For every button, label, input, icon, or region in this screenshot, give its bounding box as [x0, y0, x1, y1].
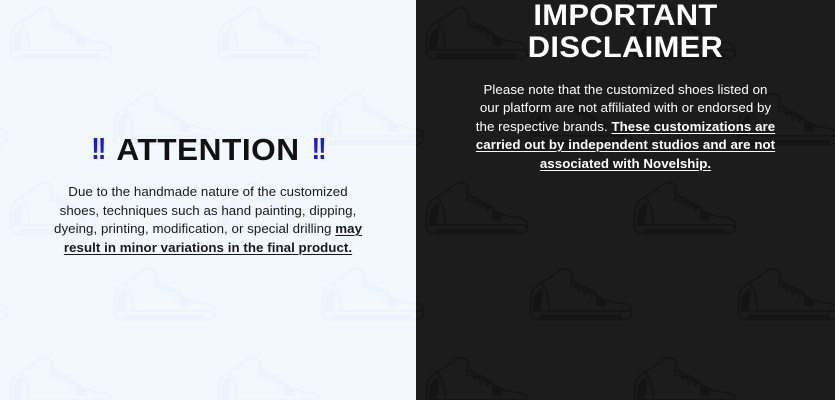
- attention-heading-text: ATTENTION: [116, 134, 299, 165]
- disclaimer-heading: IMPORTANT DISCLAIMER: [432, 0, 818, 64]
- disclaimer-panel: IMPORTANT DISCLAIMER Please note that th…: [416, 0, 835, 400]
- attention-body-plain: Due to the handmade nature of the custom…: [54, 184, 356, 236]
- double-exclamation-left-icon: !!: [91, 134, 104, 164]
- disclaimer-heading-line-2: DISCLAIMER: [432, 32, 818, 64]
- disclaimer-body: Please note that the customized shoes li…: [438, 81, 813, 174]
- attention-heading: !! ATTENTION !!: [18, 134, 397, 165]
- attention-content: !! ATTENTION !! Due to the handmade natu…: [0, 0, 416, 257]
- disclaimer-content: IMPORTANT DISCLAIMER Please note that th…: [416, 0, 835, 173]
- disclaimer-heading-line-1: IMPORTANT: [432, 0, 818, 32]
- disclaimer-banner: !! ATTENTION !! Due to the handmade natu…: [0, 0, 835, 400]
- double-exclamation-right-icon: !!: [311, 134, 324, 164]
- attention-body: Due to the handmade nature of the custom…: [22, 183, 394, 257]
- attention-panel: !! ATTENTION !! Due to the handmade natu…: [0, 0, 416, 400]
